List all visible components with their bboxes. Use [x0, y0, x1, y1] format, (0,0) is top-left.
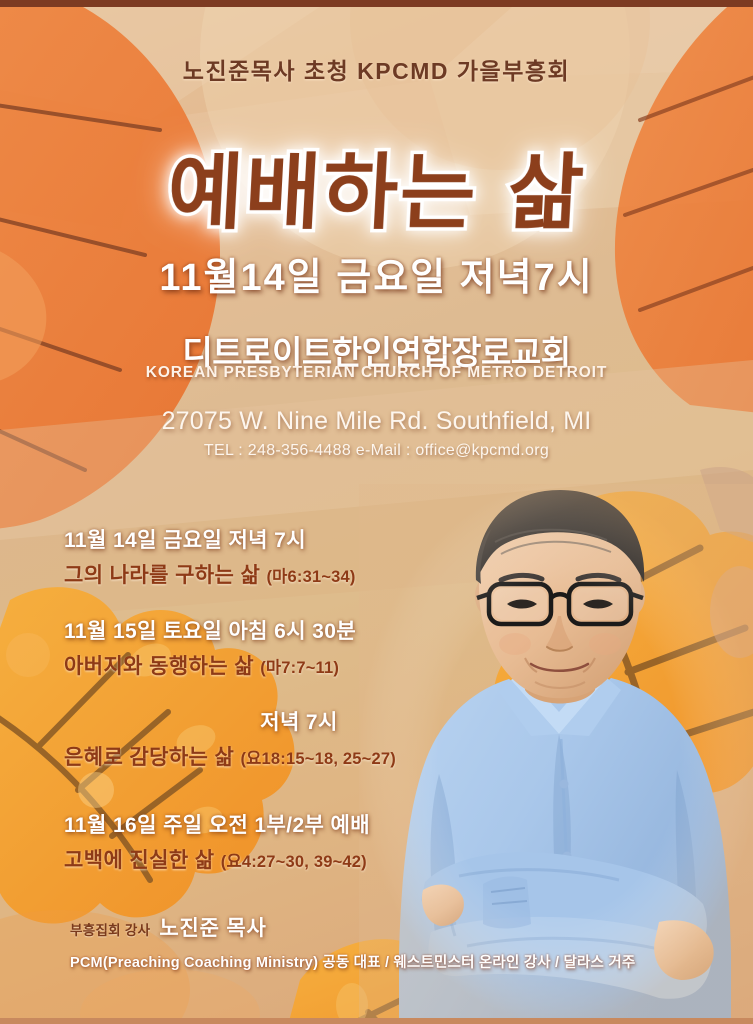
speaker-role-label: 부흥집회 강사	[70, 919, 150, 939]
session-topic-text: 고백에 진실한 삶	[64, 849, 215, 872]
session-topic-text: 그의 나라를 구하는 삶	[64, 564, 260, 587]
schedule-session: 11월 14일 금요일 저녁 7시 그의 나라를 구하는 삶 (마6:31~34…	[64, 524, 534, 589]
headline-datetime: 11월14일 금요일 저녁7시	[0, 246, 753, 301]
schedule-spacer	[64, 797, 534, 809]
schedule-session: 11월 16일 주일 오전 1부/2부 예배 고백에 진실한 삶 (요4:27~…	[64, 809, 534, 874]
speaker-credit: 부흥집회 강사 노진준 목사 PCM(Preaching Coaching Mi…	[70, 912, 610, 972]
poster-main-title: 예배하는 삶	[0, 151, 753, 237]
session-when: 11월 15일 토요일 아침 6시 30분	[64, 615, 534, 645]
speaker-headline: 부흥집회 강사 노진준 목사	[70, 912, 610, 942]
top-border	[0, 0, 753, 7]
session-topic: 고백에 진실한 삶 (요4:27~30, 39~42)	[64, 844, 534, 874]
session-scripture-reference: (요18:15~18, 25~27)	[240, 750, 395, 768]
session-topic-text: 아버지와 동행하는 삶	[64, 655, 254, 678]
session-topic: 아버지와 동행하는 삶 (마7:7~11)	[64, 650, 534, 680]
schedule-session: 11월 15일 토요일 아침 6시 30분 아버지와 동행하는 삶 (마7:7~…	[64, 615, 534, 680]
session-topic: 은혜로 감당하는 삶 (요18:15~18, 25~27)	[64, 741, 534, 771]
church-name-english: KOREAN PRESBYTERIAN CHURCH OF METRO DETR…	[0, 364, 753, 382]
session-scripture-reference: (마7:7~11)	[260, 659, 339, 677]
speaker-bio: PCM(Preaching Coaching Ministry) 공동 대표 /…	[70, 951, 610, 972]
session-topic-text: 은혜로 감당하는 삶	[64, 746, 234, 769]
poster-content: 노진준목사 초청 KPCMD 가을부흥회 예배하는 삶 11월14일 금요일 저…	[0, 0, 753, 1024]
speaker-name: 노진준 목사	[159, 912, 266, 942]
session-when: 저녁 7시	[64, 706, 534, 736]
session-when: 11월 16일 주일 오전 1부/2부 예배	[64, 809, 534, 839]
session-topic: 그의 나라를 구하는 삶 (마6:31~34)	[64, 559, 534, 589]
schedule-list: 11월 14일 금요일 저녁 7시 그의 나라를 구하는 삶 (마6:31~34…	[64, 524, 534, 900]
event-kicker: 노진준목사 초청 KPCMD 가을부흥회	[0, 52, 753, 86]
session-when: 11월 14일 금요일 저녁 7시	[64, 524, 534, 554]
session-scripture-reference: (요4:27~30, 39~42)	[221, 853, 367, 871]
schedule-session: 저녁 7시 은혜로 감당하는 삶 (요18:15~18, 25~27)	[64, 706, 534, 771]
bottom-border	[0, 1018, 753, 1024]
session-scripture-reference: (마6:31~34)	[266, 568, 355, 586]
revival-poster: 노진준목사 초청 KPCMD 가을부흥회 예배하는 삶 11월14일 금요일 저…	[0, 0, 753, 1024]
church-address: 27075 W. Nine Mile Rd. Southfield, MI	[0, 407, 753, 436]
church-contact: TEL : 248-356-4488 e-Mail : office@kpcmd…	[0, 442, 753, 460]
